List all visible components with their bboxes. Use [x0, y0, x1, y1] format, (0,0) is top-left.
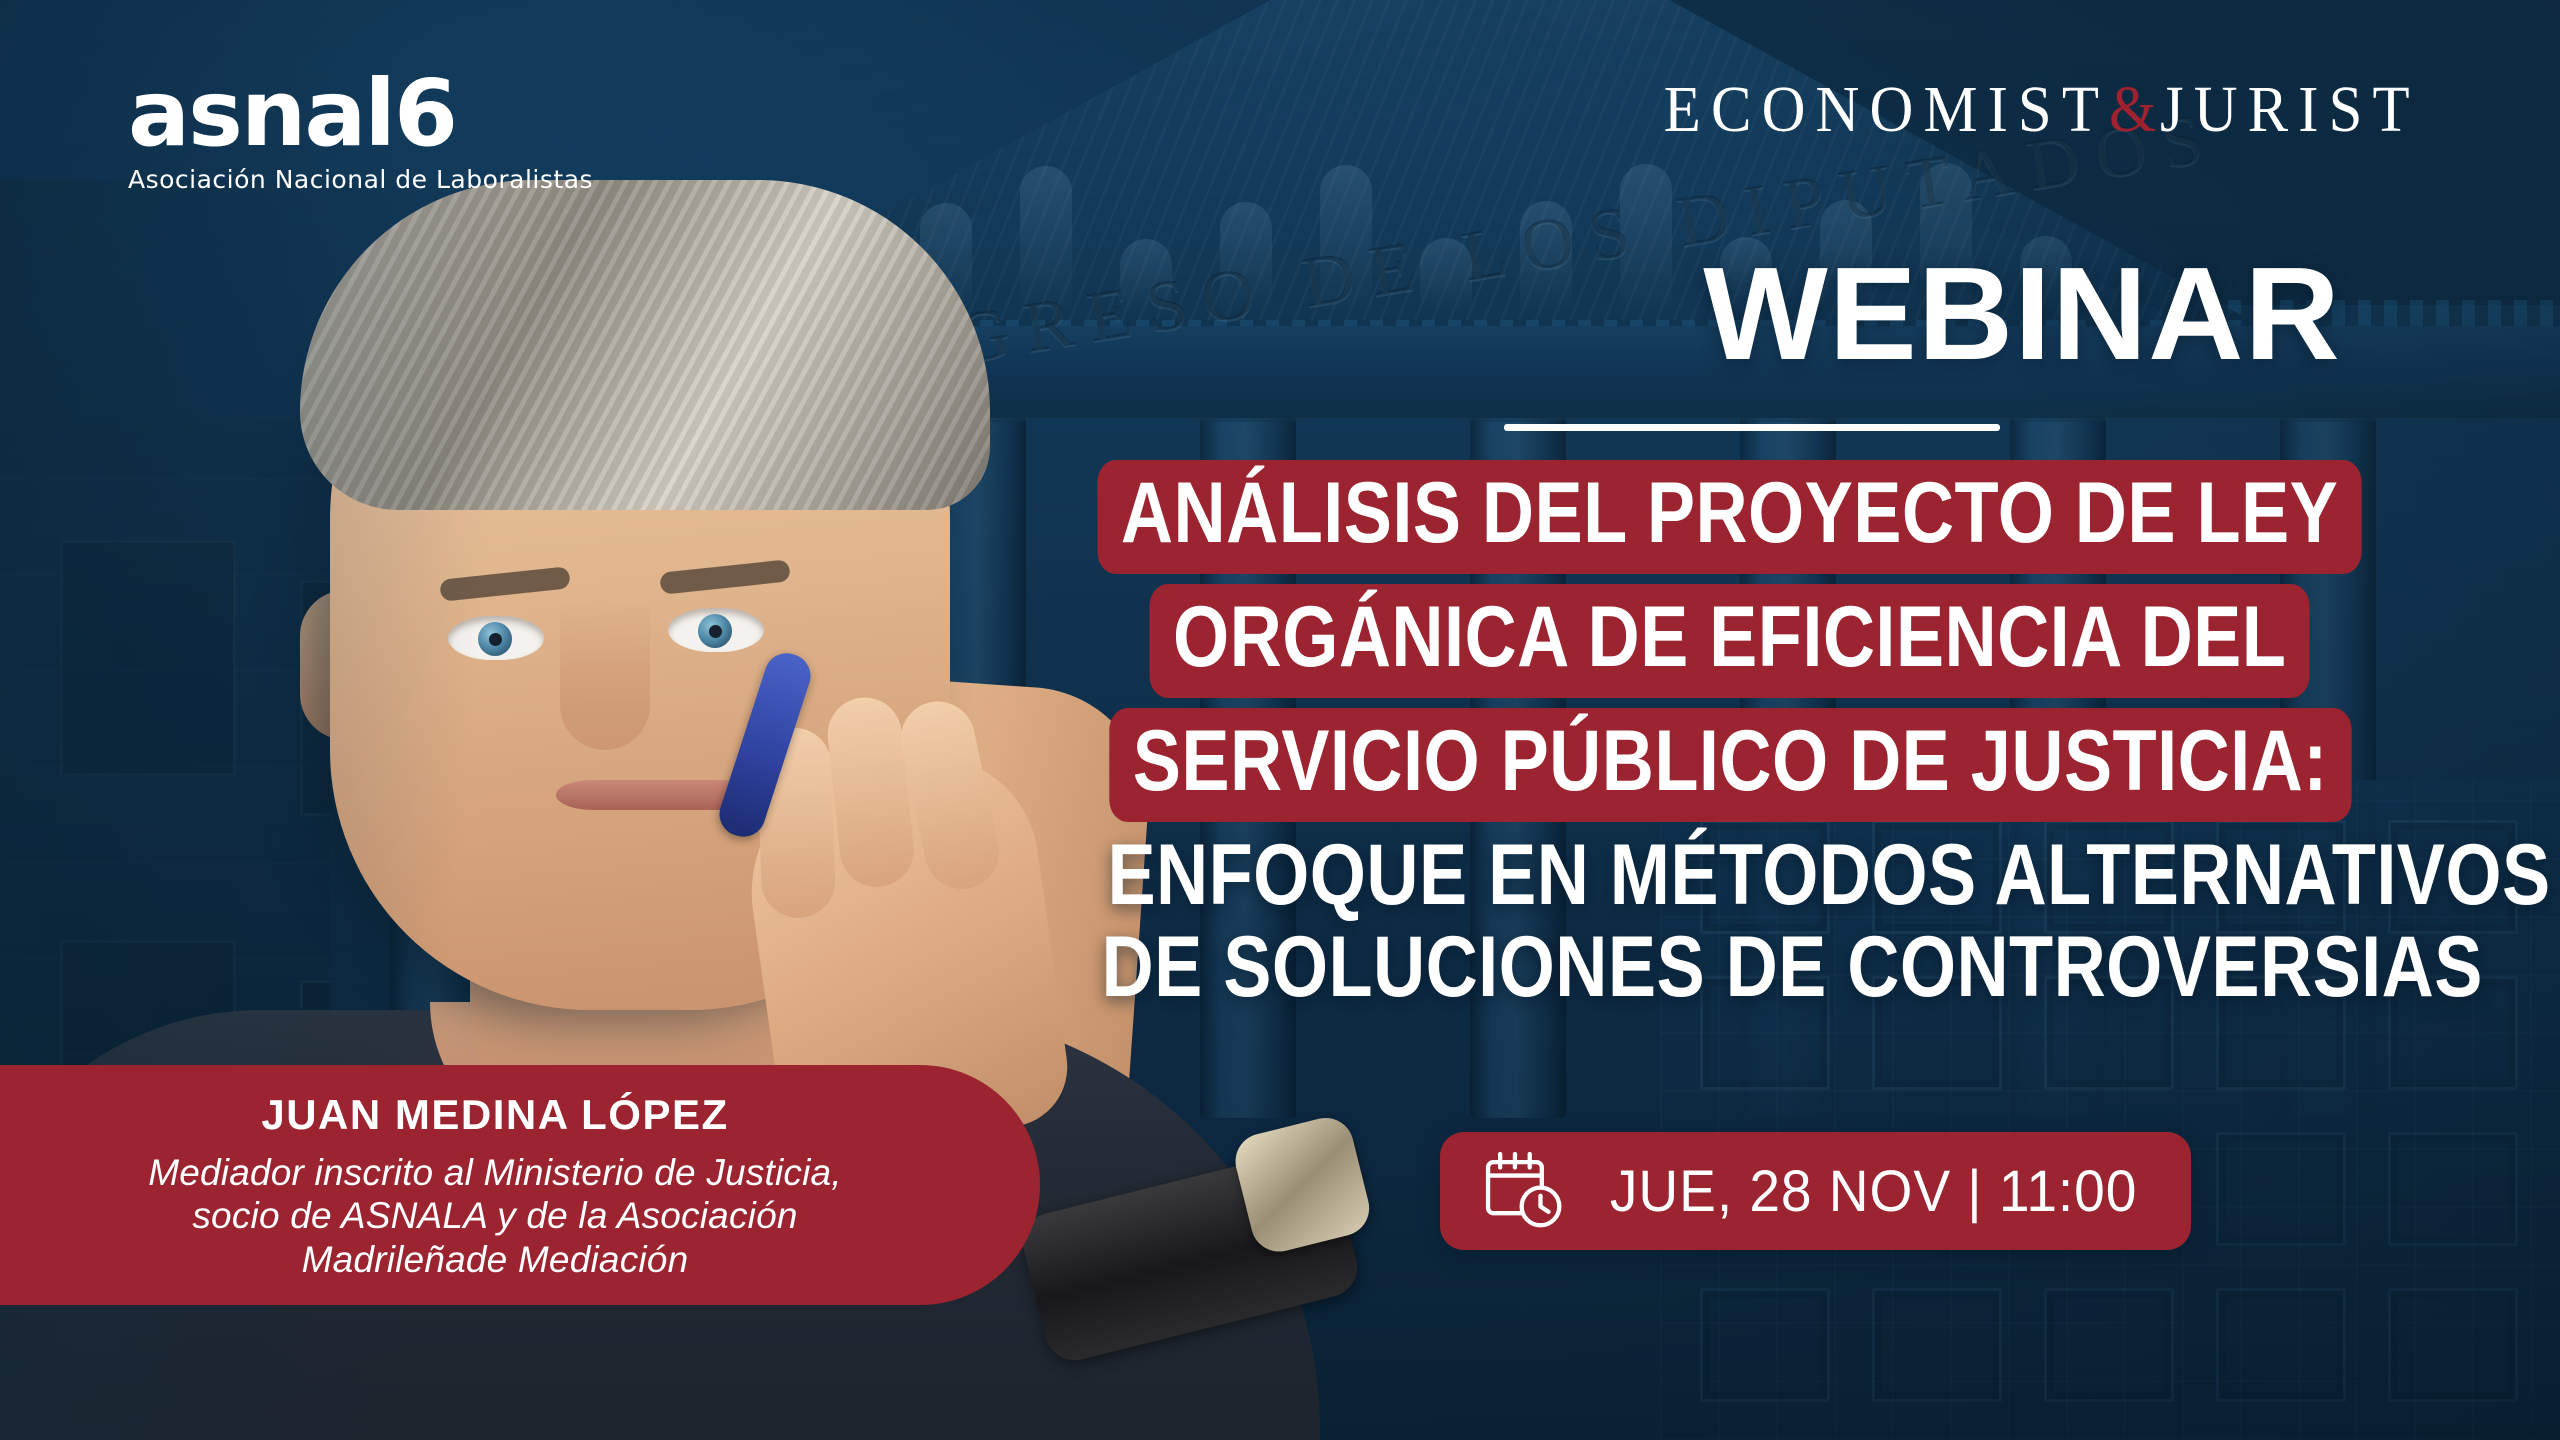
webinar-poster: CONGRESO DE LOS DIPUTADOS asnal6 Asocia — [0, 0, 2560, 1440]
speaker-role-line-3: Madrileñade Mediación — [20, 1238, 970, 1281]
speaker-role-line-2: socio de ASNALA y de la Asociación — [20, 1194, 970, 1237]
speaker-name: JUAN MEDINA LÓPEZ — [20, 1091, 970, 1139]
portrait-nose — [560, 600, 650, 750]
portrait-eye-right — [668, 608, 764, 652]
calendar-clock-icon — [1480, 1146, 1566, 1237]
eyebrow-divider — [1504, 424, 2000, 431]
title-line-2: ORGÁNICA DE EFICIENCIA DEL — [1150, 584, 2310, 698]
economist-jurist-part1: ECONOMIST — [1664, 73, 2109, 146]
portrait-eye-left — [448, 616, 544, 660]
portrait-iris-left — [478, 622, 512, 656]
ampersand-icon: & — [2109, 73, 2160, 146]
economist-jurist-logo[interactable]: ECONOMIST&JURIST — [1664, 72, 2420, 148]
eyebrow-webinar: WEBINAR — [1622, 248, 2422, 380]
title-line-4: ENFOQUE EN MÉTODOS ALTERNATIVOS — [1107, 832, 2550, 918]
speaker-panel: JUAN MEDINA LÓPEZ Mediador inscrito al M… — [0, 1065, 1040, 1305]
speaker-role: Mediador inscrito al Ministerio de Justi… — [20, 1151, 970, 1281]
speaker-role-line-1: Mediador inscrito al Ministerio de Justi… — [20, 1151, 970, 1194]
title-line-3: SERVICIO PÚBLICO DE JUSTICIA: — [1109, 708, 2351, 822]
economist-jurist-part2: JURIST — [2160, 73, 2420, 146]
title-line-5: DE SOLUCIONES DE CONTROVERSIAS — [1102, 924, 2483, 1010]
asnala-logo[interactable]: asnal6 Asociación Nacional de Laboralist… — [128, 70, 593, 194]
event-datetime-badge[interactable]: JUE, 28 NOV | 11:00 — [1440, 1132, 2191, 1250]
event-datetime-text: JUE, 28 NOV | 11:00 — [1610, 1158, 2137, 1225]
portrait-hair — [300, 180, 990, 510]
title-line-1: ANÁLISIS DEL PROYECTO DE LEY — [1098, 460, 2362, 574]
webinar-title: ANÁLISIS DEL PROYECTO DE LEYORGÁNICA DE … — [970, 460, 2490, 1016]
asnala-tagline: Asociación Nacional de Laboralistas — [128, 165, 593, 194]
asnala-wordmark: asnal6 — [128, 70, 593, 157]
portrait-iris-right — [698, 614, 732, 648]
